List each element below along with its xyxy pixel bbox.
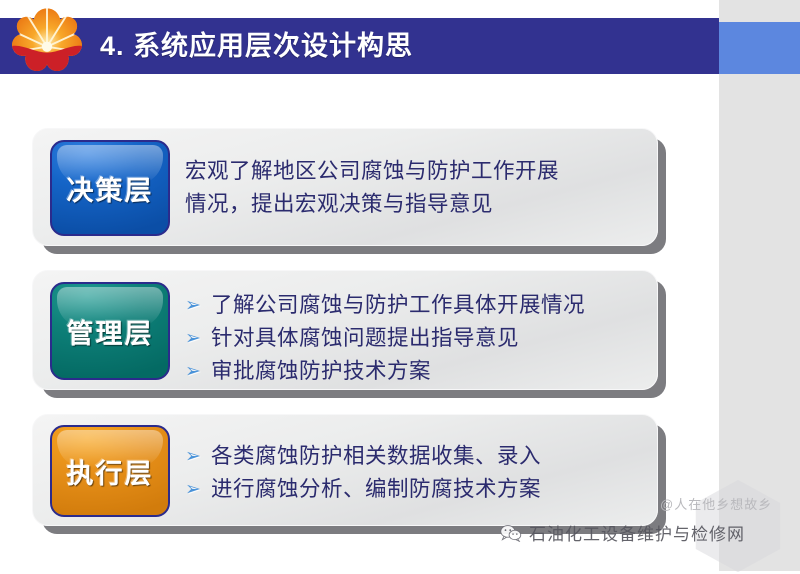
watermark-account: @人在他乡想故乡 [660, 494, 772, 513]
bullet-label: 了解公司腐蚀与防护工作具体开展情况 [211, 289, 585, 322]
arrow-bullet-icon: ➢ [185, 440, 211, 473]
bullet-item: ➢ 针对具体腐蚀问题提出指导意见 [185, 322, 643, 355]
bullet-label: 各类腐蚀防护相关数据收集、录入 [211, 440, 541, 473]
arrow-bullet-icon: ➢ [185, 473, 211, 506]
layer-body-execution: ➢ 各类腐蚀防护相关数据收集、录入 ➢ 进行腐蚀分析、编制防腐技术方案 [185, 440, 643, 506]
layer-panel-decision: 决策层 宏观了解地区公司腐蚀与防护工作开展 情况，提出宏观决策与指导意见 [32, 128, 658, 246]
layer-badge-execution: 执行层 [50, 425, 170, 517]
bullet-label: 针对具体腐蚀问题提出指导意见 [211, 322, 519, 355]
layer-panel-execution: 执行层 ➢ 各类腐蚀防护相关数据收集、录入 ➢ 进行腐蚀分析、编制防腐技术方案 [32, 414, 658, 526]
arrow-bullet-icon: ➢ [185, 322, 211, 355]
watermark-site-label: 石油化工设备维护与检修网 [529, 520, 745, 545]
petrochina-logo-icon [10, 7, 84, 85]
layer-badge-management: 管理层 [50, 282, 170, 380]
page-title: 4. 系统应用层次设计构思 [100, 18, 413, 74]
bullet-item: ➢ 了解公司腐蚀与防护工作具体开展情况 [185, 289, 643, 322]
wechat-icon [500, 524, 522, 542]
bullet-label: 进行腐蚀分析、编制防腐技术方案 [211, 473, 541, 506]
bullet-label: 审批腐蚀防护技术方案 [211, 355, 431, 388]
arrow-bullet-icon: ➢ [185, 289, 211, 322]
layer-badge-label: 执行层 [67, 452, 154, 491]
layer-body-decision: 宏观了解地区公司腐蚀与防护工作开展 情况，提出宏观决策与指导意见 [185, 155, 643, 221]
layer-badge-label: 管理层 [67, 312, 154, 351]
bullet-item: ➢ 进行腐蚀分析、编制防腐技术方案 [185, 473, 643, 506]
watermark-site: 石油化工设备维护与检修网 [500, 520, 745, 545]
body-line: 宏观了解地区公司腐蚀与防护工作开展 [185, 155, 643, 188]
arrow-bullet-icon: ➢ [185, 355, 211, 388]
body-line: 情况，提出宏观决策与指导意见 [185, 188, 643, 221]
layer-badge-decision: 决策层 [50, 140, 170, 236]
slide-title-bar-accent [719, 22, 800, 74]
layer-badge-label: 决策层 [67, 169, 154, 208]
layer-body-management: ➢ 了解公司腐蚀与防护工作具体开展情况 ➢ 针对具体腐蚀问题提出指导意见 ➢ 审… [185, 289, 643, 388]
bullet-item: ➢ 审批腐蚀防护技术方案 [185, 355, 643, 388]
layer-panel-management: 管理层 ➢ 了解公司腐蚀与防护工作具体开展情况 ➢ 针对具体腐蚀问题提出指导意见… [32, 270, 658, 390]
bullet-item: ➢ 各类腐蚀防护相关数据收集、录入 [185, 440, 643, 473]
